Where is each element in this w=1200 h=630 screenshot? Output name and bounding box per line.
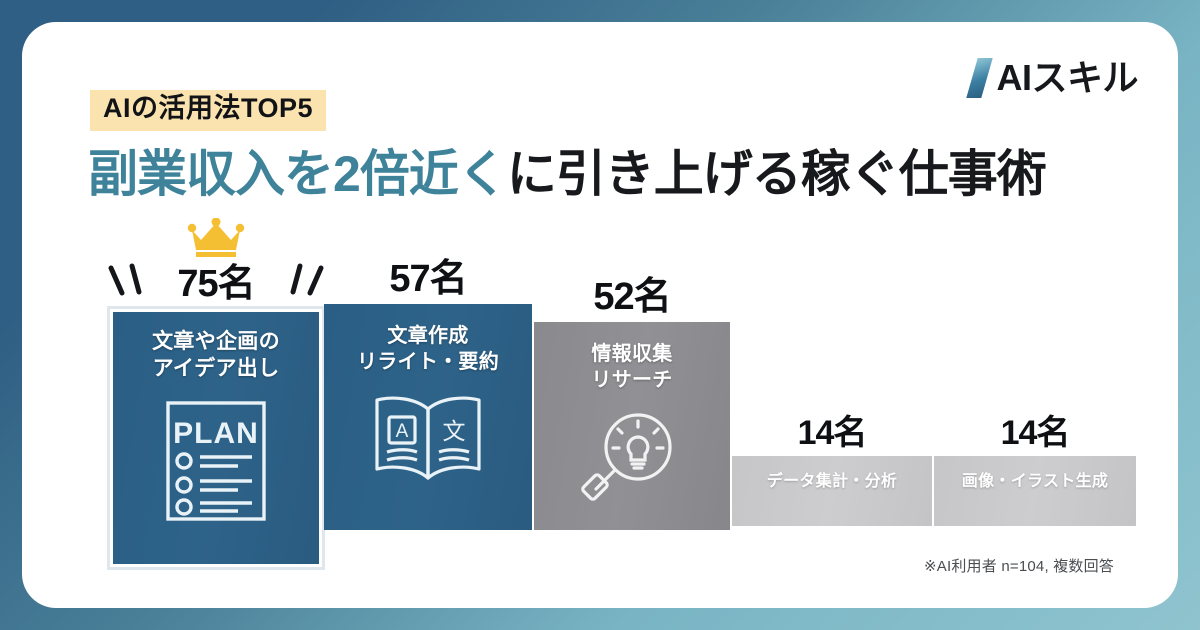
value-label-1: 75名 [177, 265, 254, 309]
bar-label-5: 画像・イラスト生成 [958, 472, 1112, 492]
bar-column-3: 52名 情報収集 リサーチ [534, 218, 730, 580]
ranking-bar-chart: 75名 文章や企画の アイデア出し PLAN [110, 218, 1136, 580]
main-card: AIスキル AIの活用法TOP5 副業収入を2倍近くに引き上げる稼ぐ仕事術 [22, 22, 1178, 608]
bar-label-3-line2: リサーチ [587, 368, 676, 394]
value-row-3: 52名 [534, 278, 730, 322]
value-label-5: 14名 [1001, 416, 1070, 456]
value-label-3: 52名 [593, 278, 670, 322]
bar-label-3-line1: 情報収集 [587, 342, 676, 368]
page-title: 副業収入を2倍近くに引き上げる稼ぐ仕事術 [88, 146, 1046, 202]
bar-2[interactable]: 文章作成 リライト・要約 A 文 [324, 304, 532, 530]
headline-highlight: 副業収入を2倍近く [88, 146, 507, 202]
logo-text: AIスキル [996, 60, 1138, 96]
brand-logo: AIスキル [972, 58, 1138, 98]
value-label-4: 14名 [798, 416, 867, 456]
chart-footnote: ※AI利用者 n=104, 複数回答 [924, 555, 1114, 576]
bar-label-1-line1: 文章や企画の [148, 329, 284, 356]
bar-column-5: 14名 画像・イラスト生成 [934, 218, 1136, 580]
value-label-2: 57名 [389, 260, 466, 304]
bar-column-2: 57名 文章作成 リライト・要約 A 文 [324, 218, 532, 580]
sparkle-right-icon [278, 262, 326, 305]
open-book-icon: A 文 [367, 389, 489, 490]
bar-label-1-line2: アイデア出し [149, 356, 284, 383]
svg-text:PLAN: PLAN [173, 417, 259, 450]
value-row-4: 14名 [732, 416, 932, 456]
value-row-5: 14名 [934, 416, 1136, 456]
bar-label-4: データ集計・分析 [763, 472, 901, 492]
eyebrow-badge: AIの活用法TOP5 [90, 90, 326, 131]
value-row-2: 57名 [324, 260, 532, 304]
magnifier-lightbulb-icon [580, 407, 684, 508]
bar-label-2-line1: 文章作成 [383, 324, 472, 350]
svg-text:A: A [396, 421, 409, 442]
bar-label-2-line2: リライト・要約 [353, 350, 503, 376]
bar-4[interactable]: データ集計・分析 [732, 456, 932, 526]
bar-3[interactable]: 情報収集 リサーチ [534, 322, 730, 530]
svg-text:文: 文 [443, 418, 466, 444]
bar-1[interactable]: 文章や企画の アイデア出し PLAN [110, 309, 322, 567]
bar-column-1: 75名 文章や企画の アイデア出し PLAN [110, 218, 322, 580]
crown-icon [187, 218, 245, 263]
value-row-1: 75名 [110, 265, 322, 309]
headline-rest: に引き上げる稼ぐ仕事術 [507, 146, 1046, 202]
logo-slash-icon [967, 58, 993, 98]
eyebrow-label: AIの活用法TOP5 [103, 93, 313, 123]
plan-document-icon: PLAN [162, 397, 270, 530]
bar-5[interactable]: 画像・イラスト生成 [934, 456, 1136, 526]
bar-column-4: 14名 データ集計・分析 [732, 218, 932, 580]
sparkle-left-icon [106, 262, 154, 305]
